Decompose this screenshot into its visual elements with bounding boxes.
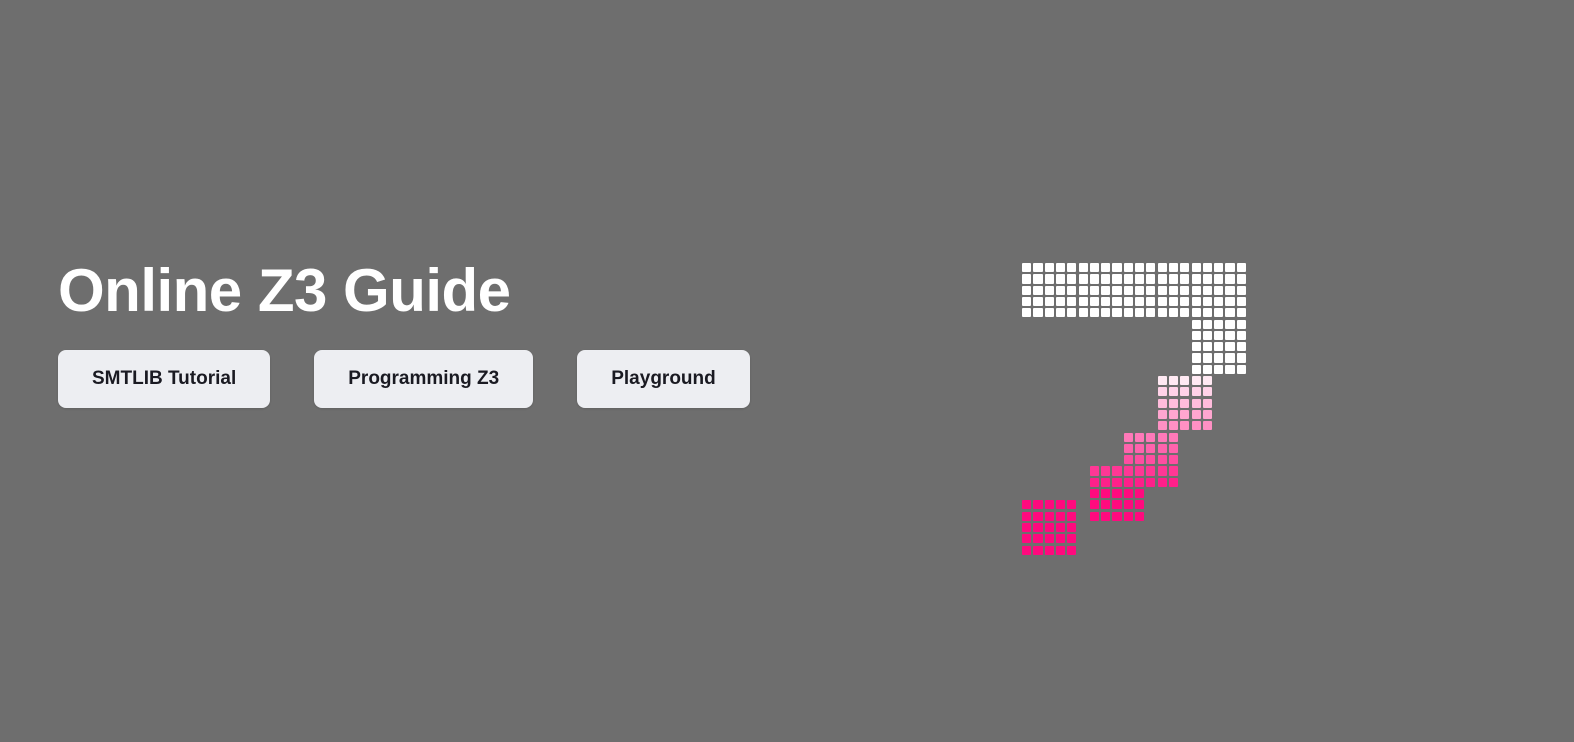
logo-pixel-cell (1236, 443, 1247, 454)
logo-pixel-cell (1100, 522, 1111, 533)
logo-pixel-cell (1044, 398, 1055, 409)
logo-pixel-cell (1021, 318, 1032, 329)
logo-pixel-cell (1479, 533, 1490, 544)
logo-pixel-cell (1411, 364, 1422, 375)
logo-pixel-cell (1066, 386, 1077, 397)
logo-pixel-cell (1224, 431, 1235, 442)
logo-pixel-cell (1490, 431, 1501, 442)
logo-pixel-cell (1400, 262, 1411, 273)
smtlib-tutorial-button[interactable]: SMTLIB Tutorial (58, 350, 270, 408)
logo-pixel-cell (1422, 420, 1433, 431)
logo-pixel-cell (1445, 465, 1456, 476)
logo-pixel-cell (1490, 330, 1501, 341)
logo-pixel-cell (1479, 443, 1490, 454)
logo-pixel-cell (1468, 533, 1479, 544)
logo-pixel-cell (1179, 352, 1190, 363)
logo-pixel-cell (1077, 601, 1088, 612)
logo-pixel-cell (1332, 420, 1343, 431)
logo-pixel-cell (1558, 352, 1569, 363)
logo-pixel-cell (1479, 285, 1490, 296)
logo-pixel-cell (1021, 477, 1032, 488)
logo-pixel-cell (1190, 364, 1201, 375)
logo-pixel-cell (1066, 533, 1077, 544)
logo-pixel-cell (1134, 285, 1145, 296)
logo-pixel-cell (1066, 375, 1077, 386)
logo-pixel-cell (1388, 386, 1399, 397)
logo-pixel-cell (1535, 375, 1546, 386)
logo-pixel-cell (1168, 477, 1179, 488)
logo-pixel-cell (1513, 386, 1524, 397)
logo-pixel-cell (1213, 601, 1224, 612)
logo-pixel-cell (1355, 443, 1366, 454)
logo-pixel-cell (1479, 465, 1490, 476)
logo-pixel-cell (1044, 454, 1055, 465)
logo-pixel-cell (1547, 318, 1558, 329)
logo-pixel-cell (1558, 341, 1569, 352)
logo-pixel-cell (1490, 499, 1501, 510)
logo-pixel-cell (1089, 522, 1100, 533)
logo-pixel-cell (1479, 499, 1490, 510)
logo-pixel-cell (1179, 398, 1190, 409)
logo-pixel-cell (1332, 465, 1343, 476)
logo-pixel-cell (1479, 556, 1490, 567)
logo-pixel-cell (1547, 431, 1558, 442)
logo-pixel-cell (1123, 296, 1134, 307)
logo-pixel-cell (1366, 285, 1377, 296)
logo-pixel-cell (1032, 375, 1043, 386)
logo-pixel-cell (1145, 465, 1156, 476)
logo-pixel-cell (1524, 601, 1535, 612)
logo-pixel-cell (1213, 398, 1224, 409)
logo-pixel-cell (1213, 454, 1224, 465)
logo-pixel-cell (1388, 443, 1399, 454)
logo-pixel-cell (1343, 578, 1354, 589)
logo-pixel-cell (1157, 307, 1168, 318)
logo-pixel-cell (1190, 544, 1201, 555)
logo-pixel-cell (1145, 431, 1156, 442)
logo-pixel-cell (1168, 352, 1179, 363)
logo-pixel-cell (1388, 375, 1399, 386)
logo-pixel-cell (1044, 420, 1055, 431)
logo-pixel-cell (1513, 601, 1524, 612)
logo-pixel-cell (1513, 533, 1524, 544)
logo-pixel-cell (1535, 567, 1546, 578)
logo-pixel-cell (1343, 635, 1354, 646)
logo-pixel-cell (1445, 398, 1456, 409)
logo-pixel-cell (1400, 364, 1411, 375)
logo-pixel-cell (1513, 431, 1524, 442)
logo-pixel-cell (1434, 635, 1445, 646)
logo-pixel-cell (1055, 296, 1066, 307)
logo-pixel-cell (1134, 522, 1145, 533)
logo-pixel-cell (1377, 443, 1388, 454)
logo-pixel-cell (1157, 578, 1168, 589)
logo-pixel-cell (1388, 624, 1399, 635)
logo-pixel-cell (1377, 420, 1388, 431)
logo-pixel-cell (1558, 364, 1569, 375)
logo-pixel-cell (1524, 386, 1535, 397)
logo-pixel-cell (1468, 330, 1479, 341)
logo-pixel-cell (1055, 318, 1066, 329)
logo-pixel-cell (1179, 601, 1190, 612)
logo-pixel-cell (1100, 590, 1111, 601)
logo-pixel-cell (1032, 352, 1043, 363)
logo-pixel-cell (1343, 420, 1354, 431)
logo-pixel-cell (1388, 601, 1399, 612)
logo-pixel-cell (1066, 364, 1077, 375)
logo-pixel-cell (1100, 341, 1111, 352)
logo-pixel-cell (1066, 488, 1077, 499)
logo-pixel-cell (1077, 285, 1088, 296)
logo-pixel-cell (1332, 398, 1343, 409)
logo-pixel-cell (1021, 375, 1032, 386)
logo-pixel-cell (1213, 375, 1224, 386)
logo-pixel-cell (1456, 273, 1467, 284)
logo-pixel-cell (1179, 522, 1190, 533)
logo-pixel-cell (1213, 307, 1224, 318)
logo-pixel-cell (1021, 285, 1032, 296)
logo-pixel-cell (1224, 409, 1235, 420)
logo-pixel-cell (1134, 330, 1145, 341)
logo-pixel-cell (1332, 431, 1343, 442)
logo-pixel-cell (1134, 511, 1145, 522)
logo-pixel-cell (1366, 307, 1377, 318)
logo-pixel-cell (1044, 364, 1055, 375)
logo-pixel-cell (1332, 375, 1343, 386)
logo-pixel-cell (1501, 601, 1512, 612)
logo-pixel-cell (1168, 386, 1179, 397)
logo-pixel-cell (1168, 590, 1179, 601)
logo-pixel-cell (1388, 612, 1399, 623)
logo-pixel-cell (1343, 352, 1354, 363)
logo-pixel-cell (1558, 590, 1569, 601)
logo-pixel-cell (1077, 544, 1088, 555)
logo-pixel-cell (1055, 409, 1066, 420)
logo-pixel-cell (1224, 364, 1235, 375)
logo-pixel-cell (1558, 443, 1569, 454)
logo-pixel-cell (1157, 375, 1168, 386)
logo-pixel-cell (1547, 386, 1558, 397)
logo-pixel-cell (1422, 341, 1433, 352)
logo-pixel-cell (1501, 386, 1512, 397)
logo-pixel-cell (1134, 431, 1145, 442)
logo-pixel-cell (1411, 578, 1422, 589)
logo-pixel-cell (1558, 431, 1569, 442)
logo-pixel-cell (1411, 443, 1422, 454)
logo-pixel-cell (1411, 567, 1422, 578)
logo-pixel-cell (1547, 567, 1558, 578)
logo-pixel-cell (1032, 533, 1043, 544)
logo-pixel-cell (1558, 601, 1569, 612)
logo-pixel-cell (1422, 296, 1433, 307)
logo-pixel-cell (1032, 499, 1043, 510)
logo-pixel-cell (1445, 285, 1456, 296)
logo-pixel-cell (1021, 386, 1032, 397)
logo-pixel-cell (1434, 488, 1445, 499)
logo-pixel-cell (1044, 386, 1055, 397)
logo-pixel-cell (1445, 364, 1456, 375)
logo-pixel-cell (1524, 635, 1535, 646)
logo-pixel-cell (1134, 420, 1145, 431)
logo-pixel-cell (1100, 533, 1111, 544)
logo-pixel-cell (1021, 465, 1032, 476)
logo-pixel-cell (1468, 285, 1479, 296)
logo-pixel-cell (1558, 556, 1569, 567)
logo-pixel-cell (1021, 544, 1032, 555)
logo-pixel-cell (1213, 262, 1224, 273)
logo-pixel-cell (1055, 341, 1066, 352)
logo-pixel-cell (1479, 488, 1490, 499)
logo-pixel-cell (1236, 556, 1247, 567)
logo-pixel-cell (1066, 318, 1077, 329)
logo-pixel-cell (1490, 590, 1501, 601)
logo-pixel-cell (1411, 522, 1422, 533)
logo-pixel-cell (1089, 341, 1100, 352)
logo-pixel-cell (1236, 296, 1247, 307)
logo-pixel-cell (1400, 544, 1411, 555)
logo-pixel-cell (1332, 409, 1343, 420)
logo-pixel-cell (1513, 477, 1524, 488)
logo-pixel-cell (1479, 431, 1490, 442)
logo-pixel-cell (1224, 477, 1235, 488)
logo-pixel-cell (1558, 454, 1569, 465)
logo-pixel-cell (1236, 341, 1247, 352)
logo-pixel-cell (1400, 578, 1411, 589)
logo-pixel-cell (1468, 612, 1479, 623)
logo-pixel-cell (1411, 556, 1422, 567)
logo-pixel-cell (1501, 420, 1512, 431)
logo-pixel-cell (1021, 488, 1032, 499)
logo-pixel-cell (1468, 409, 1479, 420)
logo-pixel-cell (1134, 556, 1145, 567)
logo-pixel-cell (1490, 556, 1501, 567)
logo-pixel-cell (1524, 590, 1535, 601)
logo-pixel-cell (1089, 454, 1100, 465)
logo-pixel-cell (1236, 409, 1247, 420)
logo-pixel-cell (1434, 386, 1445, 397)
logo-pixel-cell (1513, 443, 1524, 454)
logo-pixel-cell (1077, 409, 1088, 420)
logo-pixel-cell (1388, 567, 1399, 578)
logo-pixel-cell (1332, 556, 1343, 567)
logo-pixel-cell (1513, 635, 1524, 646)
logo-pixel-cell (1213, 285, 1224, 296)
logo-pixel-cell (1479, 386, 1490, 397)
logo-pixel-cell (1445, 612, 1456, 623)
logo-pixel-cell (1055, 307, 1066, 318)
logo-pixel-cell (1411, 285, 1422, 296)
logo-pixel-cell (1202, 556, 1213, 567)
logo-pixel-cell (1224, 420, 1235, 431)
logo-pixel-cell (1190, 431, 1201, 442)
logo-pixel-cell (1366, 624, 1377, 635)
logo-pixel-cell (1134, 601, 1145, 612)
logo-pixel-cell (1032, 544, 1043, 555)
logo-pixel-cell (1343, 465, 1354, 476)
logo-pixel-cell (1535, 262, 1546, 273)
logo-pixel-cell (1168, 499, 1179, 510)
logo-pixel-cell (1400, 624, 1411, 635)
logo-pixel-cell (1134, 465, 1145, 476)
logo-pixel-cell (1366, 330, 1377, 341)
logo-pixel-cell (1224, 567, 1235, 578)
logo-pixel-cell (1066, 273, 1077, 284)
logo-pixel-cell (1168, 364, 1179, 375)
logo-pixel-cell (1089, 499, 1100, 510)
logo-pixel-cell (1388, 273, 1399, 284)
logo-pixel-cell (1535, 465, 1546, 476)
logo-pixel-cell (1157, 318, 1168, 329)
logo-pixel-cell (1377, 352, 1388, 363)
logo-pixel-cell (1513, 590, 1524, 601)
logo-pixel-cell (1202, 330, 1213, 341)
logo-pixel-cell (1213, 590, 1224, 601)
logo-pixel-cell (1355, 296, 1366, 307)
programming-z3-button[interactable]: Programming Z3 (314, 350, 533, 408)
logo-pixel-cell (1366, 352, 1377, 363)
logo-pixel-cell (1077, 318, 1088, 329)
logo-pixel-cell (1445, 296, 1456, 307)
logo-pixel-cell (1224, 465, 1235, 476)
logo-pixel-cell (1157, 262, 1168, 273)
logo-pixel-cell (1468, 307, 1479, 318)
logo-pixel-cell (1123, 488, 1134, 499)
logo-pixel-cell (1388, 318, 1399, 329)
logo-pixel-cell (1332, 635, 1343, 646)
logo-pixel-cell (1422, 635, 1433, 646)
logo-pixel-cell (1422, 273, 1433, 284)
logo-pixel-cell (1343, 307, 1354, 318)
logo-pixel-cell (1400, 533, 1411, 544)
logo-pixel-cell (1055, 431, 1066, 442)
logo-pixel-cell (1066, 307, 1077, 318)
logo-pixel-cell (1066, 522, 1077, 533)
logo-pixel-cell (1066, 511, 1077, 522)
logo-pixel-cell (1032, 556, 1043, 567)
logo-pixel-cell (1445, 499, 1456, 510)
logo-pixel-cell (1547, 499, 1558, 510)
logo-pixel-cell (1089, 477, 1100, 488)
logo-pixel-cell (1236, 375, 1247, 386)
logo-pixel-cell (1343, 590, 1354, 601)
logo-pixel-cell (1021, 556, 1032, 567)
logo-pixel-cell (1332, 262, 1343, 273)
logo-pixel-cell (1490, 635, 1501, 646)
logo-pixel-cell (1479, 273, 1490, 284)
logo-pixel-cell (1535, 296, 1546, 307)
logo-pixel-cell (1145, 454, 1156, 465)
logo-pixel-cell (1123, 262, 1134, 273)
logo-pixel-cell (1445, 511, 1456, 522)
logo-pixel-cell (1236, 285, 1247, 296)
logo-pixel-cell (1558, 533, 1569, 544)
logo-pixel-cell (1021, 296, 1032, 307)
logo-pixel-cell (1513, 307, 1524, 318)
logo-pixel-cell (1434, 522, 1445, 533)
logo-pixel-cell (1077, 431, 1088, 442)
logo-pixel-cell (1055, 567, 1066, 578)
logo-pixel-cell (1547, 454, 1558, 465)
logo-pixel-cell (1190, 307, 1201, 318)
logo-pixel-cell (1100, 443, 1111, 454)
logo-pixel-cell (1524, 567, 1535, 578)
logo-pixel-cell (1168, 556, 1179, 567)
logo-pixel-cell (1123, 567, 1134, 578)
logo-pixel-cell (1411, 454, 1422, 465)
logo-pixel-cell (1490, 341, 1501, 352)
logo-pixel-cell (1202, 398, 1213, 409)
logo-pixel-cell (1400, 477, 1411, 488)
logo-pixel-cell (1524, 578, 1535, 589)
logo-pixel-cell (1145, 409, 1156, 420)
logo-pixel-cell (1366, 318, 1377, 329)
logo-pixel-cell (1501, 285, 1512, 296)
playground-button[interactable]: Playground (577, 350, 750, 408)
logo-pixel-cell (1468, 499, 1479, 510)
logo-pixel-cell (1388, 533, 1399, 544)
logo-pixel-cell (1558, 567, 1569, 578)
logo-pixel-cell (1479, 296, 1490, 307)
logo-pixel-cell (1513, 578, 1524, 589)
logo-pixel-cell (1445, 624, 1456, 635)
logo-pixel-cell (1021, 431, 1032, 442)
logo-pixel-cell (1157, 522, 1168, 533)
logo-pixel-cell (1332, 330, 1343, 341)
logo-pixel-cell (1021, 511, 1032, 522)
logo-pixel-cell (1123, 544, 1134, 555)
logo-pixel-cell (1355, 522, 1366, 533)
logo-pixel-cell (1032, 273, 1043, 284)
logo-pixel-cell (1468, 262, 1479, 273)
logo-pixel-cell (1190, 296, 1201, 307)
logo-pixel-cell (1456, 330, 1467, 341)
logo-pixel-cell (1558, 522, 1569, 533)
logo-pixel-cell (1411, 477, 1422, 488)
logo-pixel-cell (1179, 307, 1190, 318)
logo-pixel-cell (1501, 465, 1512, 476)
logo-pixel-cell (1422, 352, 1433, 363)
logo-pixel-cell (1168, 465, 1179, 476)
logo-pixel-cell (1535, 398, 1546, 409)
logo-pixel-cell (1524, 556, 1535, 567)
logo-pixel-cell (1157, 364, 1168, 375)
logo-pixel-cell (1445, 431, 1456, 442)
logo-pixel-cell (1513, 364, 1524, 375)
logo-pixel-cell (1213, 443, 1224, 454)
logo-pixel-cell (1456, 352, 1467, 363)
logo-pixel-cell (1236, 420, 1247, 431)
logo-pixel-cell (1168, 443, 1179, 454)
logo-pixel-cell (1547, 635, 1558, 646)
logo-pixel-cell (1134, 307, 1145, 318)
logo-pixel-cell (1179, 341, 1190, 352)
logo-pixel-cell (1558, 285, 1569, 296)
logo-pixel-cell (1513, 273, 1524, 284)
logo-pixel-cell (1021, 364, 1032, 375)
logo-pixel-cell (1400, 612, 1411, 623)
logo-pixel-cell (1400, 375, 1411, 386)
logo-pixel-cell (1100, 386, 1111, 397)
logo-pixel-cell (1388, 511, 1399, 522)
logo-pixel-cell (1456, 341, 1467, 352)
logo-pixel-cell (1445, 544, 1456, 555)
logo-pixel-cell (1224, 341, 1235, 352)
logo-pixel-cell (1422, 431, 1433, 442)
logo-pixel-cell (1377, 488, 1388, 499)
logo-pixel-cell (1422, 612, 1433, 623)
logo-pixel-cell (1388, 420, 1399, 431)
logo-pixel-cell (1355, 431, 1366, 442)
